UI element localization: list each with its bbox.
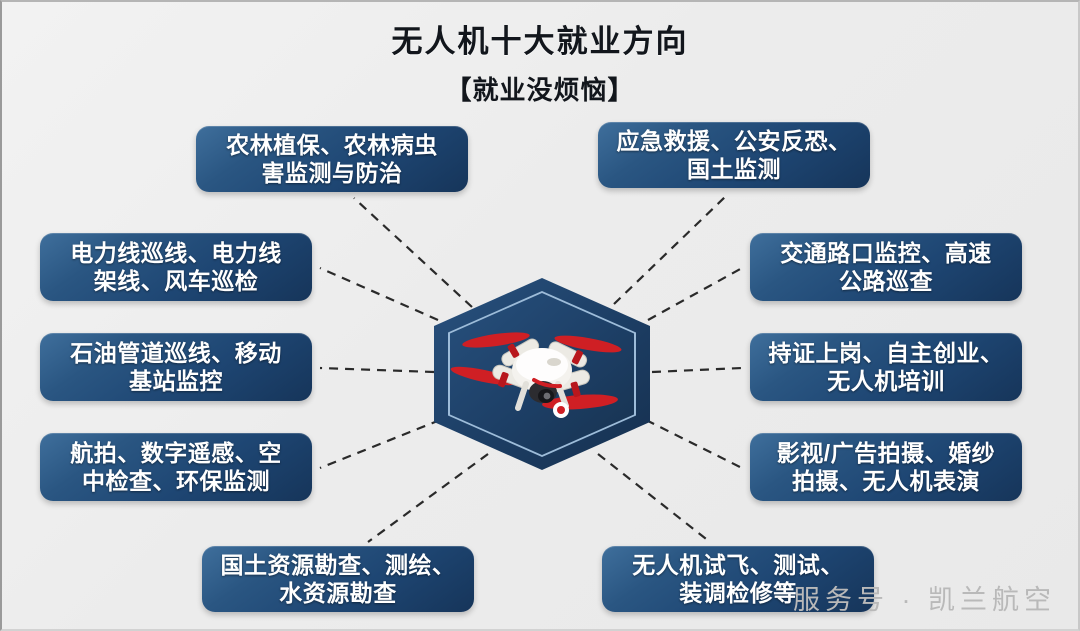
center-hexagon (434, 278, 650, 470)
drone-illustration (448, 310, 636, 438)
topic-box-1[interactable]: 农林植保、农林病虫 害监测与防治 (196, 126, 468, 192)
topic-box-3[interactable]: 电力线巡线、电力线 架线、风车巡检 (40, 233, 312, 301)
connector-line-7 (652, 368, 742, 372)
topic-box-8[interactable]: 影视/广告拍摄、婚纱 拍摄、无人机表演 (750, 433, 1022, 501)
topic-box-1-label: 农林植保、农林病虫 害监测与防治 (226, 131, 438, 187)
topic-box-6-label: 交通路口监控、高速 公路巡查 (780, 239, 992, 295)
connector-line-6 (648, 268, 742, 320)
topic-box-2-label: 应急救援、公安反恐、 国土监测 (617, 127, 852, 183)
topic-box-5-label: 航拍、数字遥感、空 中检查、环保监测 (70, 439, 282, 495)
topic-box-5[interactable]: 航拍、数字遥感、空 中检查、环保监测 (40, 433, 312, 501)
topic-box-9-label: 国土资源勘查、测绘、 水资源勘查 (221, 551, 456, 607)
topic-box-2[interactable]: 应急救援、公安反恐、 国土监测 (598, 122, 870, 188)
connector-line-5 (320, 420, 440, 468)
connector-line-8 (646, 420, 742, 468)
connector-line-4 (320, 368, 434, 372)
infographic-canvas: 无人机十大就业方向 【就业没烦恼】 (0, 0, 1080, 631)
topic-box-3-label: 电力线巡线、电力线 架线、风车巡检 (70, 239, 282, 295)
topic-box-4-label: 石油管道巡线、移动 基站监控 (70, 339, 282, 395)
topic-box-7-label: 持证上岗、自主创业、 无人机培训 (769, 339, 1004, 395)
topic-box-7[interactable]: 持证上岗、自主创业、 无人机培训 (750, 333, 1022, 401)
topic-box-9[interactable]: 国土资源勘查、测绘、 水资源勘查 (202, 546, 474, 612)
topic-box-4[interactable]: 石油管道巡线、移动 基站监控 (40, 333, 312, 401)
topic-box-8-label: 影视/广告拍摄、婚纱 拍摄、无人机表演 (777, 439, 995, 495)
topic-box-6[interactable]: 交通路口监控、高速 公路巡查 (750, 233, 1022, 301)
watermark-text: 服务号 · 凯兰航空 (793, 578, 1056, 617)
connector-line-3 (320, 268, 438, 320)
